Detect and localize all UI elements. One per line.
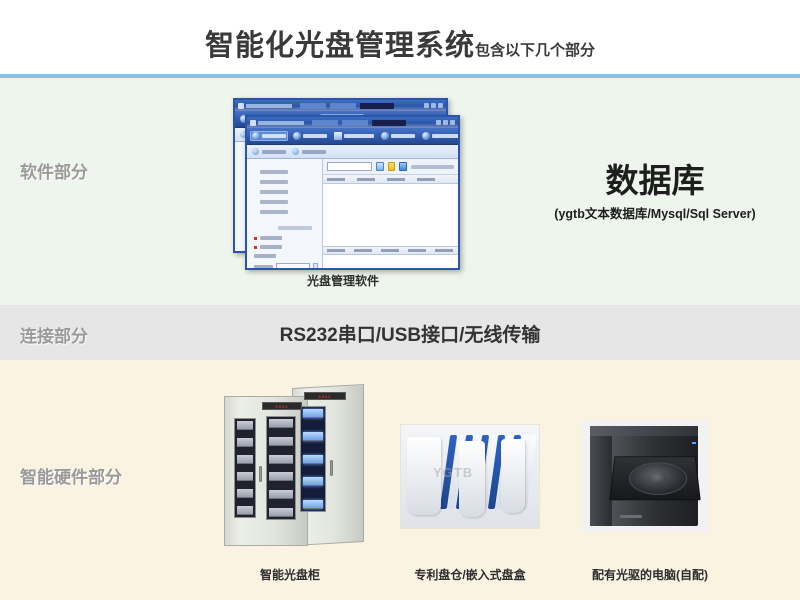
maximize-icon[interactable] xyxy=(431,103,436,108)
disc-bin-holder xyxy=(501,439,525,513)
watermark-text: YGTB xyxy=(433,465,473,480)
column-header xyxy=(327,249,345,252)
cabinet-shelf xyxy=(269,437,293,446)
disc-icon xyxy=(292,148,299,155)
search-icon xyxy=(422,132,430,140)
close-icon[interactable] xyxy=(450,120,455,125)
sub-tab-label xyxy=(302,150,326,154)
cabinet-shelf xyxy=(237,506,253,515)
cabinet-glass-panel xyxy=(266,416,296,520)
toolbar-button-label xyxy=(303,134,327,138)
text-input[interactable] xyxy=(276,263,310,270)
titlebar-tab[interactable] xyxy=(312,120,338,126)
cabinet-shelf xyxy=(269,508,293,517)
column-header xyxy=(408,249,426,252)
sub-tab-label xyxy=(262,150,286,154)
photo-smart-disc-cabinet: 8888 8888 xyxy=(218,378,368,558)
close-icon[interactable] xyxy=(438,103,443,108)
toolbar-button-manage[interactable] xyxy=(379,131,417,141)
cabinet-door-handle xyxy=(330,460,333,476)
field-label xyxy=(254,254,276,258)
disc-icon xyxy=(334,132,342,140)
cabinet-shelf xyxy=(237,438,253,447)
cabinet-shelf xyxy=(269,419,293,428)
sub-tab-one[interactable] xyxy=(252,148,286,155)
computer-top-panel xyxy=(590,426,698,436)
export-icon xyxy=(293,132,301,140)
table-header-row xyxy=(323,175,458,184)
column-header xyxy=(435,249,453,252)
maximize-icon[interactable] xyxy=(443,120,448,125)
folder-icon xyxy=(252,148,259,155)
record-count-text xyxy=(411,165,454,169)
toolbar-button-search[interactable] xyxy=(420,131,460,141)
window-title-text xyxy=(258,121,304,125)
computer-side-panel xyxy=(590,426,612,526)
infographic-page: 智能化光盘管理系统包含以下几个部分 软件部分 xyxy=(0,0,800,600)
database-title: 数据库 xyxy=(520,163,790,199)
left-form-panel[interactable] xyxy=(247,159,323,268)
section-label-connection: 连接部分 xyxy=(20,322,88,347)
field-label xyxy=(260,236,282,240)
cabinet-glass-panel xyxy=(234,418,256,518)
cabinet-shelf xyxy=(269,490,293,499)
filter-icon[interactable] xyxy=(388,162,396,171)
panel-note-text xyxy=(278,226,312,230)
minimize-icon[interactable] xyxy=(436,120,441,125)
cabinet-led-display: 8888 xyxy=(262,402,302,410)
column-header xyxy=(354,249,372,252)
titlebar-tab[interactable] xyxy=(300,103,326,109)
sub-tab-two[interactable] xyxy=(292,148,326,155)
window-toolbar[interactable] xyxy=(247,128,458,145)
section-label-software: 软件部分 xyxy=(20,158,88,183)
column-header xyxy=(387,178,405,181)
cabinet-shelf xyxy=(237,455,253,464)
disc-spindle-hub xyxy=(650,473,666,484)
tree-node[interactable] xyxy=(260,170,288,174)
field-label xyxy=(260,245,282,249)
toolbar-button-active[interactable] xyxy=(250,131,288,141)
column-header xyxy=(357,178,375,181)
import-icon xyxy=(252,132,260,140)
cabinet-led-display: 8888 xyxy=(304,392,346,400)
cabinet-door-handle xyxy=(259,466,262,482)
right-content-panel xyxy=(323,159,458,268)
required-marker-icon xyxy=(254,246,257,249)
caption-cabinet: 智能光盘柜 xyxy=(215,566,365,583)
stepper-icon[interactable] xyxy=(313,263,318,270)
window-titlebar xyxy=(235,100,446,111)
section-label-hardware: 智能硬件部分 xyxy=(20,463,122,488)
window-controls[interactable] xyxy=(436,120,455,125)
required-marker-icon xyxy=(254,237,257,240)
tree-node[interactable] xyxy=(260,180,288,184)
page-title-sub: 包含以下几个部分 xyxy=(475,42,595,59)
cabinet-shelf-lit xyxy=(303,409,323,418)
cabinet-shelf xyxy=(237,421,253,430)
tree-node[interactable] xyxy=(260,200,288,204)
table-body-upper[interactable] xyxy=(323,184,458,246)
connection-methods-text: RS232串口/USB接口/无线传输 xyxy=(200,320,620,347)
caption-software: 光盘管理软件 xyxy=(243,272,443,289)
cabinet-shelf xyxy=(269,455,293,464)
caption-disc-bin: 专利盘仓/嵌入式盘盒 xyxy=(390,566,550,583)
header: 智能化光盘管理系统包含以下几个部分 xyxy=(0,0,800,74)
browse-icon[interactable] xyxy=(376,162,384,171)
titlebar-tabs[interactable] xyxy=(300,103,424,109)
disc-tray-well xyxy=(628,462,689,495)
caption-computer: 配有光驱的电脑(自配) xyxy=(560,566,740,583)
power-led-icon xyxy=(692,442,696,444)
titlebar-tab[interactable] xyxy=(342,120,368,126)
cabinet-shelf-lit xyxy=(303,455,323,464)
table-body-lower[interactable] xyxy=(323,255,458,270)
minimize-icon[interactable] xyxy=(424,103,429,108)
led-digits: 8888 xyxy=(319,394,332,399)
photo-disc-bin: YGTB xyxy=(400,424,540,529)
database-subtitle: (ygtb文本数据库/Mysql/Sql Server) xyxy=(520,203,790,222)
database-block: 数据库 (ygtb文本数据库/Mysql/Sql Server) xyxy=(520,163,790,222)
column-header xyxy=(417,178,435,181)
page-title: 智能化光盘管理系统包含以下几个部分 xyxy=(0,22,800,64)
disc-bin-scene: YGTB xyxy=(401,425,539,528)
toolbar-button-label xyxy=(344,134,374,138)
gear-icon xyxy=(381,132,389,140)
toolbar-button-label xyxy=(391,134,415,138)
cabinet-shelf-lit xyxy=(303,432,323,441)
cabinet-shelf-lit xyxy=(303,477,323,486)
computer-front-buttons xyxy=(620,515,642,518)
field-label xyxy=(254,265,273,269)
field-row xyxy=(254,254,318,258)
toolbar-button-disc[interactable] xyxy=(332,131,376,141)
sub-tab-bar[interactable] xyxy=(247,145,458,159)
app-icon xyxy=(250,120,256,126)
column-header xyxy=(327,178,345,181)
app-icon xyxy=(238,103,244,109)
cabinet-shelf xyxy=(269,472,293,481)
toolbar-button-export[interactable] xyxy=(291,131,329,141)
titlebar-tabs[interactable] xyxy=(312,120,436,126)
app-window-front[interactable] xyxy=(245,115,460,270)
search-bar[interactable] xyxy=(323,159,458,175)
optical-drive-tray xyxy=(609,456,700,500)
required-field-row xyxy=(254,236,318,240)
tree-node[interactable] xyxy=(260,190,288,194)
required-field-row xyxy=(254,245,318,249)
toolbar-button-label xyxy=(432,134,460,138)
titlebar-tab[interactable] xyxy=(330,103,356,109)
window-title-text xyxy=(246,104,292,108)
table-header-row-lower xyxy=(323,246,458,255)
cabinet-shelf xyxy=(237,472,253,481)
column-header xyxy=(381,249,399,252)
tree-node[interactable] xyxy=(260,210,288,214)
form-field-row[interactable] xyxy=(254,263,318,270)
photo-computer-with-optical-drive xyxy=(582,420,708,532)
refresh-icon[interactable] xyxy=(399,162,407,171)
window-controls[interactable] xyxy=(424,103,443,108)
led-digits: 8888 xyxy=(276,404,289,409)
page-title-main: 智能化光盘管理系统 xyxy=(205,30,475,62)
cabinet-shelf-lit xyxy=(303,500,323,509)
titlebar-tab-active[interactable] xyxy=(360,103,394,109)
titlebar-tab-active[interactable] xyxy=(372,120,406,126)
search-input[interactable] xyxy=(327,162,372,171)
window-titlebar xyxy=(247,117,458,128)
cabinet-glass-panel-lit xyxy=(300,406,326,512)
cabinet-shelf xyxy=(237,489,253,498)
toolbar-button-label xyxy=(262,134,286,138)
window-body xyxy=(247,145,458,268)
